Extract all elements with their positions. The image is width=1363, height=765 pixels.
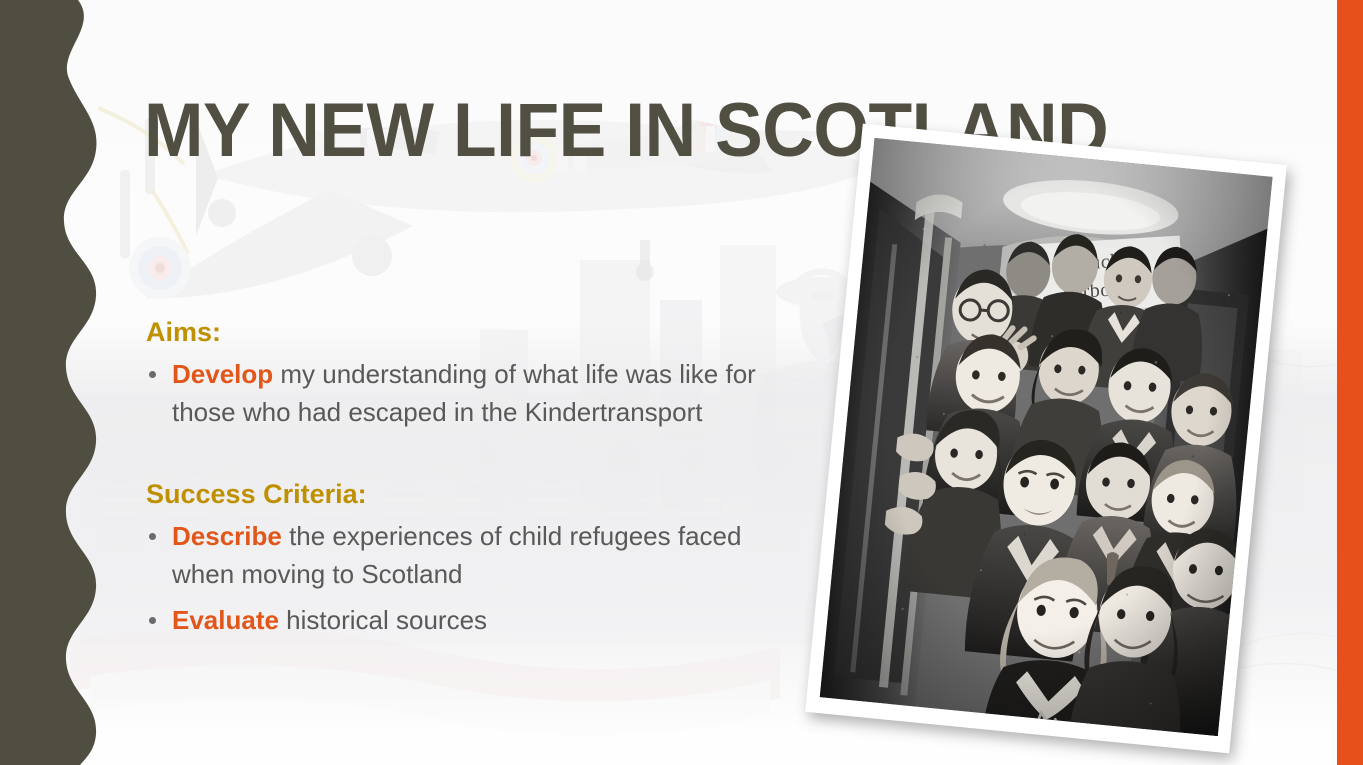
list-item: Describe the experiences of child refuge…	[146, 517, 806, 593]
aims-heading: Aims:	[146, 315, 806, 349]
presentation-slide: MY NEW LIFE IN SCOTLAND Aims: Develop my…	[0, 0, 1363, 765]
left-wavy-band	[0, 0, 110, 765]
slide-body: Aims: Develop my understanding of what l…	[146, 315, 806, 647]
list-item: Develop my understanding of what life wa…	[146, 355, 806, 431]
kindertransport-photo: Rauchen verboten	[820, 138, 1273, 736]
kindertransport-photo-svg: Rauchen verboten	[820, 138, 1273, 736]
bullet-body-text: historical sources	[279, 605, 487, 635]
bullet-dot-icon	[149, 371, 156, 378]
bullet-lead-verb: Evaluate	[172, 605, 279, 635]
aims-bullet-list: Develop my understanding of what life wa…	[146, 355, 806, 431]
list-item: Evaluate historical sources	[146, 601, 806, 639]
success-criteria-bullet-list: Describe the experiences of child refuge…	[146, 517, 806, 639]
bullet-lead-verb: Develop	[172, 359, 273, 389]
bullet-dot-icon	[149, 533, 156, 540]
success-criteria-heading: Success Criteria:	[146, 477, 806, 511]
bullet-dot-icon	[149, 617, 156, 624]
kindertransport-photo-frame: Rauchen verboten	[805, 124, 1287, 754]
bullet-lead-verb: Describe	[172, 521, 282, 551]
right-accent-bar	[1337, 0, 1363, 765]
